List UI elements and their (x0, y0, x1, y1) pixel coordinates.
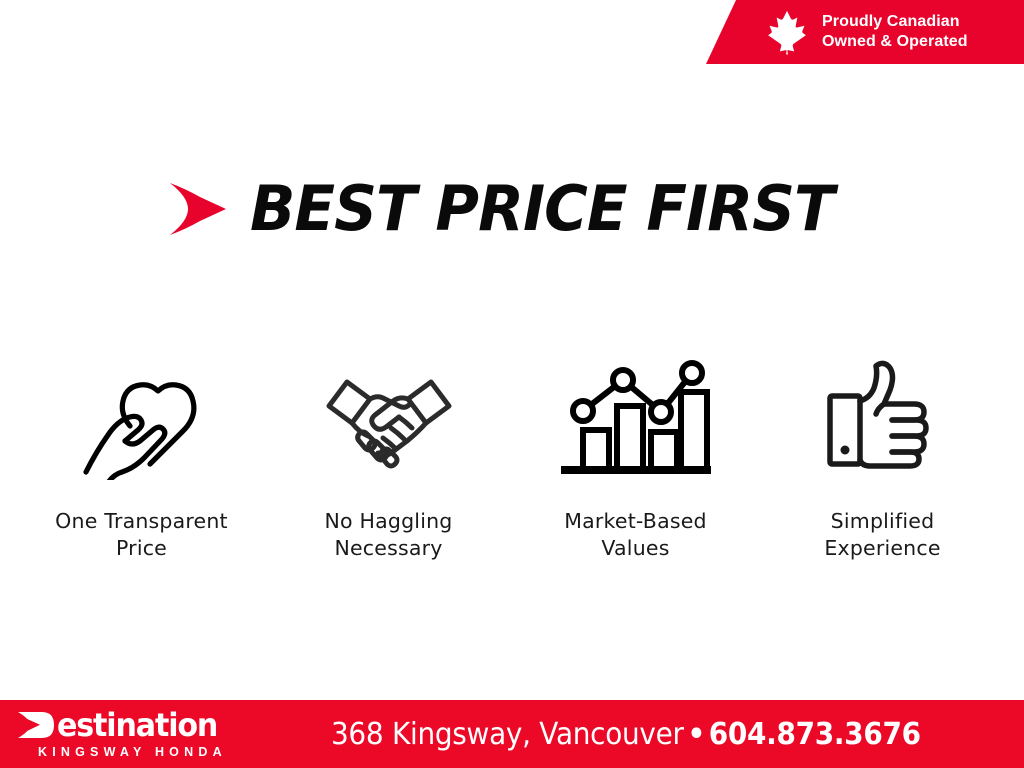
phone-number[interactable]: 604.873.3676 (709, 717, 921, 752)
feature-label: Market-Based Values (564, 508, 706, 562)
bar-chart-trend-icon (561, 358, 711, 480)
contact-info: 368 Kingsway, Vancouver•604.873.3676 (277, 717, 997, 752)
feature-icon-wrap (321, 350, 457, 480)
dealership-logo[interactable]: estination KINGSWAY HONDA (0, 709, 250, 759)
feature-item-simplified-experience: Simplified Experience (759, 350, 1006, 562)
feature-label: Simplified Experience (824, 508, 940, 562)
feature-list: One Transparent Price (18, 350, 1006, 562)
feature-label: No Haggling Necessary (325, 508, 453, 562)
feature-label: One Transparent Price (55, 508, 228, 562)
banner-line-2: Owned & Operated (822, 32, 968, 52)
page-title: BEST PRICE FIRST (250, 178, 834, 240)
maple-leaf-icon (764, 9, 810, 55)
proudly-canadian-banner: Proudly Canadian Owned & Operated (706, 0, 1024, 64)
handshake-icon (321, 370, 457, 480)
address-text: 368 Kingsway, Vancouver (331, 717, 684, 752)
feature-item-no-haggling-necessary: No Haggling Necessary (265, 350, 512, 562)
logo-subtitle: KINGSWAY HONDA (16, 746, 250, 759)
banner-line-1: Proudly Canadian (822, 12, 968, 32)
feature-item-one-transparent-price: One Transparent Price (18, 350, 265, 562)
destination-swoosh-icon (16, 710, 56, 740)
footer-bar: estination KINGSWAY HONDA 368 Kingsway, … (0, 700, 1024, 768)
logo-wordmark-row: estination (16, 709, 250, 741)
feature-icon-wrap (561, 350, 711, 480)
feature-item-market-based-values: Market-Based Values (512, 350, 759, 562)
hand-holding-heart-icon (78, 360, 206, 480)
separator-bullet: • (684, 717, 709, 752)
feature-icon-wrap (78, 350, 206, 480)
banner-text-block: Proudly Canadian Owned & Operated (822, 12, 968, 53)
red-arrow-icon (166, 181, 228, 237)
headline-row: BEST PRICE FIRST (0, 178, 1024, 240)
feature-icon-wrap (822, 350, 944, 480)
thumbs-up-icon (822, 356, 944, 480)
logo-wordmark: estination (57, 709, 217, 741)
